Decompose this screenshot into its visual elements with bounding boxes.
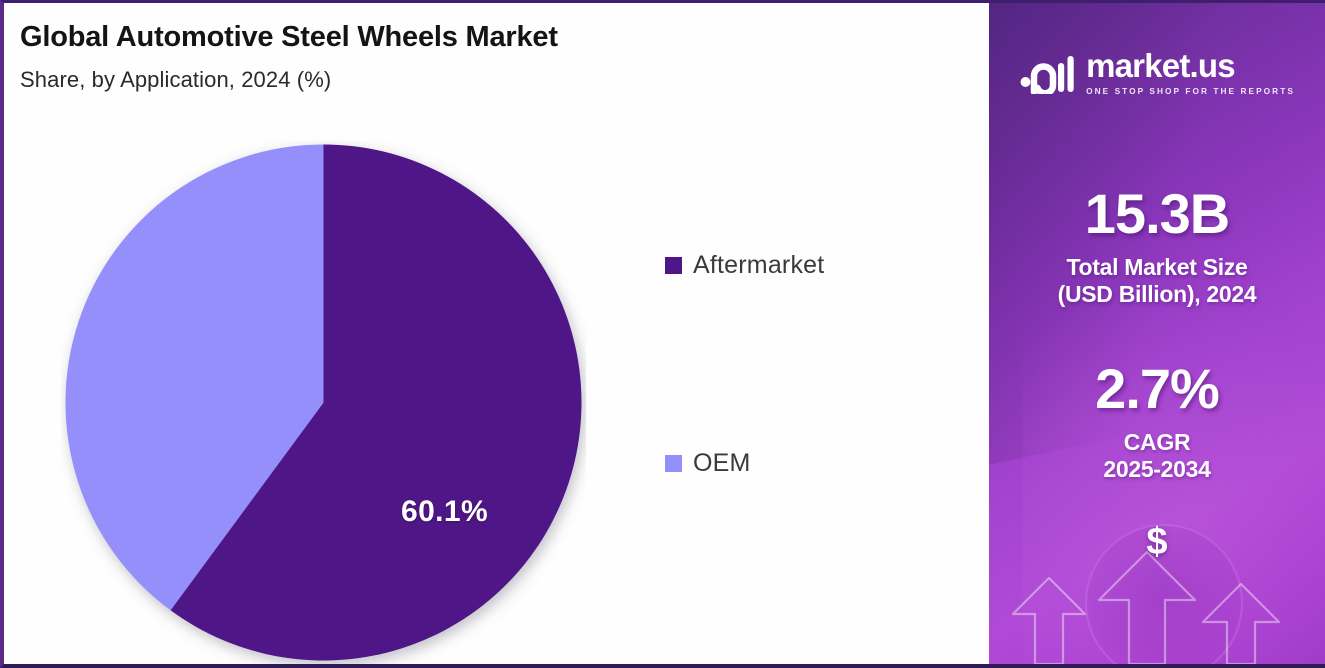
up-arrow-left-icon	[1013, 578, 1085, 664]
market-us-logo-mark-icon	[1019, 52, 1075, 94]
up-arrow-right-icon	[1203, 584, 1279, 664]
stat-value-market-size: 15.3B	[989, 186, 1325, 242]
legend-item-aftermarket[interactable]: Aftermarket	[665, 251, 824, 280]
brand-logo-tagline: ONE STOP SHOP FOR THE REPORTS	[1086, 86, 1295, 96]
stat-label-line1-cagr: CAGR	[1124, 429, 1191, 455]
infographic-root: Global Automotive Steel Wheels Market Sh…	[0, 0, 1325, 668]
brand-logo-wordmark: market.us	[1086, 49, 1235, 82]
brand-panel: market.us ONE STOP SHOP FOR THE REPORTS …	[989, 3, 1325, 664]
chart-header: Global Automotive Steel Wheels Market Sh…	[20, 21, 558, 93]
stat-value-cagr: 2.7%	[989, 361, 1325, 417]
dollar-sign-icon: $	[989, 521, 1325, 564]
legend-label-aftermarket: Aftermarket	[693, 251, 824, 280]
chart-title: Global Automotive Steel Wheels Market	[20, 21, 558, 54]
legend-swatch-icon-aftermarket	[665, 257, 682, 274]
pie-slices	[65, 145, 581, 661]
chart-panel: Global Automotive Steel Wheels Market Sh…	[4, 3, 989, 664]
pie-chart: 60.1%	[61, 140, 586, 665]
chart-subtitle: Share, by Application, 2024 (%)	[20, 67, 558, 93]
pie-chart-svg	[61, 140, 586, 665]
legend-item-oem[interactable]: OEM	[665, 449, 751, 478]
brand-logo[interactable]: market.us ONE STOP SHOP FOR THE REPORTS	[989, 49, 1325, 96]
legend-label-oem: OEM	[693, 449, 751, 478]
stat-cagr: 2.7% CAGR 2025-2034	[989, 361, 1325, 483]
legend-swatch-icon-oem	[665, 455, 682, 472]
stat-label-line2-cagr: 2025-2034	[989, 456, 1325, 483]
growth-arrows-decoration: $	[989, 504, 1325, 664]
stat-total-market-size: 15.3B Total Market Size (USD Billion), 2…	[989, 186, 1325, 308]
stat-label-cagr: CAGR 2025-2034	[989, 429, 1325, 483]
up-arrow-center-icon	[1099, 552, 1195, 664]
pie-slice-value-label: 60.1%	[401, 495, 488, 529]
stat-label-line1-market-size: Total Market Size	[1066, 254, 1247, 280]
stat-label-line2-market-size: (USD Billion), 2024	[989, 281, 1325, 308]
stat-label-market-size: Total Market Size (USD Billion), 2024	[989, 254, 1325, 308]
